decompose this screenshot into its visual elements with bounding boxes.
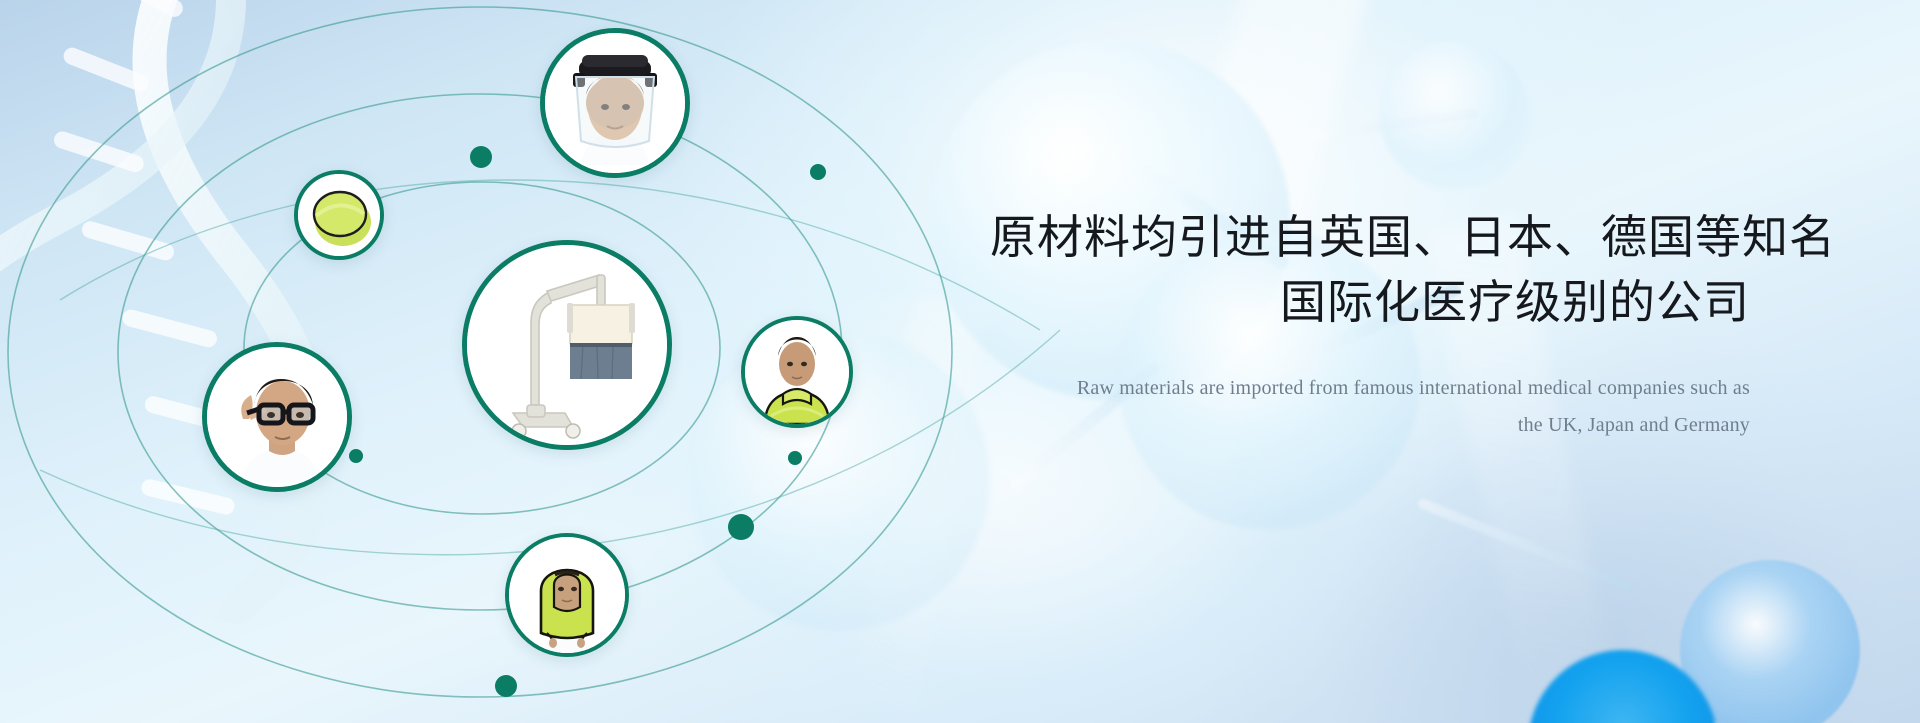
banner-copy: 原材料均引进自英国、日本、德国等知名 国际化医疗级别的公司 Raw materi… bbox=[990, 205, 1750, 444]
protective-hood-icon bbox=[509, 537, 625, 653]
orbit-dot bbox=[349, 449, 363, 463]
hero-banner: 原材料均引进自英国、日本、德国等知名 国际化医疗级别的公司 Raw materi… bbox=[0, 0, 1920, 723]
orbit-dot bbox=[495, 675, 517, 697]
page-title: 原材料均引进自英国、日本、德国等知名 国际化医疗级别的公司 bbox=[990, 205, 1750, 336]
molecule-sphere-highlight bbox=[1680, 560, 1860, 723]
orbit-dot bbox=[788, 451, 802, 465]
molecule-bond bbox=[1310, 108, 1480, 141]
product-bubble-protective-hood[interactable] bbox=[505, 533, 629, 657]
product-bubble-lead-glasses[interactable] bbox=[202, 342, 352, 492]
subtitle-line-2: the UK, Japan and Germany bbox=[990, 407, 1750, 444]
molecule-sphere bbox=[1380, 40, 1530, 190]
mobile-lead-screen-icon bbox=[467, 245, 667, 445]
thyroid-collar-icon bbox=[745, 320, 849, 424]
glass-streak bbox=[847, 297, 983, 723]
lead-cap-icon bbox=[298, 174, 380, 256]
lead-glasses-icon bbox=[207, 347, 347, 487]
dna-helix-icon bbox=[0, 0, 513, 650]
orbit-dot bbox=[470, 146, 492, 168]
orbit-dot bbox=[728, 514, 754, 540]
product-bubble-lead-cap[interactable] bbox=[294, 170, 384, 260]
molecule-sphere-blue bbox=[1528, 650, 1718, 723]
face-shield-icon bbox=[545, 33, 685, 173]
headline-line-1: 原材料均引进自英国、日本、德国等知名 bbox=[990, 211, 1836, 263]
orbit-dot bbox=[810, 164, 826, 180]
molecule-bond bbox=[1417, 497, 1634, 592]
product-bubble-face-shield[interactable] bbox=[540, 28, 690, 178]
subtitle-line-1: Raw materials are imported from famous i… bbox=[1077, 377, 1750, 399]
headline-line-2: 国际化医疗级别的公司 bbox=[990, 270, 1750, 335]
subtitle: Raw materials are imported from famous i… bbox=[990, 370, 1750, 444]
product-bubble-thyroid-collar[interactable] bbox=[741, 316, 853, 428]
product-bubble-mobile-lead-screen[interactable] bbox=[462, 240, 672, 450]
